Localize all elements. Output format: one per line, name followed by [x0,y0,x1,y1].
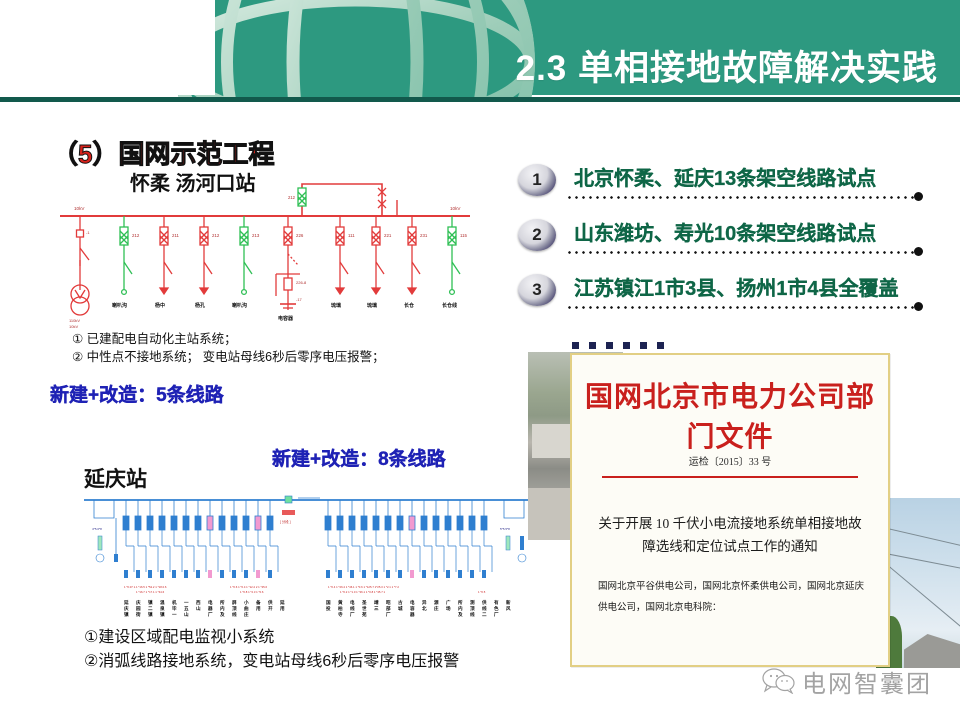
note-4: ②消弧线路接地系统，变电站母线6秒后零序电压报警 [84,650,459,674]
svg-text:1 *0.4 1 *26.4 1 *46.1 1 *0: 1 *0.4 1 *26.4 1 *46.1 1 *0.6 1 *125.7 1… [328,585,399,589]
svg-text:5*5.5*8: 5*5.5*8 [500,527,510,531]
svg-text:圣: 圣 [361,599,367,606]
svg-text:世: 世 [362,605,367,612]
svg-text:城: 城 [398,605,403,612]
svg-text:苑: 苑 [362,611,367,618]
diagram1-svg: 10kV 10kV -1 110kV 10kV [52,170,502,332]
svg-text:新: 新 [506,599,511,606]
svg-text:镇: 镇 [160,611,165,618]
svg-text:测: 测 [470,599,475,606]
svg-text:一: 一 [172,612,177,617]
svg-text:风: 风 [506,605,511,612]
slide: 2.3 单相接地故障解决实践 （5）国网示范工程 怀柔 汤河口站 10kV 10… [0,0,960,720]
svg-text:喇叭沟: 喇叭沟 [232,302,247,309]
svg-text:1 *16.7 1 *17.1 1 *44.6: 1 *16.7 1 *17.1 1 *44.6 [136,590,165,594]
svg-text:用: 用 [280,605,285,612]
svg-text:黄: 黄 [338,599,343,606]
svg-text:供: 供 [267,599,273,606]
svg-text:温: 温 [160,599,165,606]
svg-text:机: 机 [172,599,177,606]
dotted-underline [566,251,916,254]
diagram2-svg: [ 分段 ] 4*5.0*8 [80,492,540,624]
badge-number: 3 [518,274,556,306]
dot-end-marker [914,192,923,201]
document-recipients: 国网北京平谷供电公司，国网北京怀柔供电公司，国网北京延庆供电公司，国网北京电科院… [598,577,870,619]
svg-text:泉: 泉 [159,605,165,612]
note-2: ② 中性点不接地系统； 变电站母线6秒后零序电压报警； [72,348,512,366]
svg-text:西: 西 [196,599,201,606]
pilot-project-list: 1 北京怀柔、延庆13条架空线路试点 2 山东潍坊、寿光10条架空线路试点 3 … [518,160,948,325]
svg-text:容: 容 [409,605,415,612]
slide-header: 2.3 单相接地故障解决实践 [0,0,960,100]
svg-text:内: 内 [220,605,225,612]
svg-text:昭: 昭 [386,599,391,606]
svg-text:国: 国 [326,599,331,606]
dotted-underline [566,196,916,199]
svg-text:电: 电 [350,599,355,606]
svg-text:屏: 屏 [232,599,237,606]
svg-text:有: 有 [494,599,499,606]
header-white-mask [0,0,215,95]
number-badge: 1 [518,164,556,196]
svg-text:及: 及 [458,611,463,618]
svg-text:顶: 顶 [232,605,237,612]
svg-text:开: 开 [268,605,273,612]
svg-text:线: 线 [350,605,355,612]
svg-text:212: 212 [212,233,220,238]
svg-text:电: 电 [410,599,415,606]
svg-text:色: 色 [494,605,499,612]
svg-text:部: 部 [386,605,391,612]
decorative-squares [572,342,692,350]
document-title: 国网北京市电力公司部门文件 [572,375,888,455]
svg-text:线: 线 [482,605,487,612]
svg-text:10kV: 10kV [69,324,78,329]
diagram2-title: 延庆站 [84,463,147,493]
diagram2-notes: ①建设区域配电监视小系统 ②消弧线路接地系统，变电站母线6秒后零序电压报警 [84,626,459,674]
document-subject: 关于开展 10 千伏小电流接地系统单相接地故障选线和定位试点工作的通知 [598,513,862,559]
svg-text:异: 异 [422,599,427,606]
watermark-text: 电网智囊团 [802,664,932,699]
svg-text:长仓: 长仓 [404,302,415,309]
svg-text:1 *0.8 1 *2.3 1 *0.6: 1 *0.8 1 *2.3 1 *0.6 [240,590,264,594]
svg-text:4*5.0*8: 4*5.0*8 [92,527,102,531]
svg-text:顶: 顶 [470,605,475,612]
svg-text:街: 街 [135,611,141,618]
svg-text:厂: 厂 [208,611,213,618]
svg-text:10kV: 10kV [74,206,85,211]
svg-text:杨中: 杨中 [155,302,165,309]
svg-text:器: 器 [409,611,415,618]
badge-number: 1 [518,164,556,196]
svg-text:10kV: 10kV [450,206,461,211]
svg-text:电: 电 [208,599,213,606]
svg-text:1 *0.5: 1 *0.5 [478,590,486,594]
dot-end-marker [914,302,923,311]
document-red-rule [602,476,858,478]
svg-text:二: 二 [482,612,487,617]
svg-text:221: 221 [384,233,392,238]
dotted-underline [566,306,916,309]
svg-text:庄: 庄 [434,605,439,612]
svg-text:内: 内 [458,605,463,612]
header-divider [0,97,960,102]
number-badge: 2 [518,219,556,251]
svg-text:柏: 柏 [338,605,343,612]
svg-text:三: 三 [374,606,379,612]
svg-text:二: 二 [148,606,153,611]
page-title: 2.3 单相接地故障解决实践 [516,40,938,91]
svg-text:喇叭沟: 喇叭沟 [112,302,127,309]
wechat-bubble-icon [762,668,796,694]
svg-text:镇: 镇 [124,611,129,618]
svg-text:226: 226 [296,233,304,238]
diagram1-notes: ① 已建配电自动化主站系统； ② 中性点不接地系统； 变电站母线6秒后零序电压报… [72,330,512,366]
diagram1-title: 怀柔 汤河口站 [130,167,256,196]
svg-text:及: 及 [220,611,225,618]
svg-text:琉璃: 琉璃 [367,302,377,309]
svg-text:庄: 庄 [244,611,249,618]
svg-text:所: 所 [220,599,225,606]
svg-text:山: 山 [196,605,201,612]
svg-text:镇: 镇 [148,599,153,606]
svg-text:线: 线 [470,611,475,618]
svg-text:长仓线: 长仓线 [442,302,457,309]
svg-text:212: 212 [132,233,140,238]
list-item[interactable]: 1 北京怀柔、延庆13条架空线路试点 [518,160,948,215]
huairou-substation-diagram: 怀柔 汤河口站 10kV 10kV -1 [52,170,502,330]
svg-text:庆: 庆 [136,599,141,606]
list-item[interactable]: 2 山东潍坊、寿光10条架空线路试点 [518,215,948,270]
svg-text:厂: 厂 [494,611,499,618]
document-number: 运检〔2015〕33 号 [572,453,888,468]
dot-end-marker [914,247,923,256]
svg-text:曲: 曲 [244,605,249,612]
svg-text:111: 111 [348,233,355,238]
svg-text:231: 231 [420,233,428,238]
blue-caption-first: 新建+改造：5条线路 [50,380,224,407]
svg-text:毕: 毕 [172,605,177,612]
svg-text:用: 用 [256,605,261,612]
svg-text:镇: 镇 [148,611,153,618]
svg-text:杨孔: 杨孔 [195,302,205,309]
svg-text:110kV: 110kV [69,318,80,323]
svg-text:1 *0.07 1.1 *16.5 1 *52.2: 1 *0.07 1.1 *16.5 1 *52.2 1 *18.0.6 [124,585,167,589]
svg-text:电容器: 电容器 [278,315,294,322]
state-grid-document: 国网北京市电力公司部门文件 运检〔2015〕33 号 关于开展 10 千伏小电流… [570,353,890,667]
svg-text:备: 备 [255,599,261,606]
svg-text:-17: -17 [296,297,303,302]
list-item[interactable]: 3 江苏镇江1市3县、扬州1市4县全覆盖 [518,270,948,325]
list-item-label: 北京怀柔、延庆13条架空线路试点 [574,162,876,191]
section-title: （5）国网示范工程 [52,134,274,171]
badge-number: 2 [518,219,556,251]
number-badge: 3 [518,274,556,306]
yanqing-substation-diagram: [ 分段 ] 4*5.0*8 [80,492,540,622]
svg-text:庆: 庆 [124,605,129,612]
globe-grid-icon [175,0,535,100]
svg-text:226-8: 226-8 [296,280,307,285]
svg-text:211: 211 [172,233,180,238]
svg-text:琉璃: 琉璃 [331,302,341,309]
svg-text:靖: 靖 [374,599,379,606]
svg-text:延: 延 [123,599,129,606]
svg-text:延: 延 [279,599,285,606]
svg-text:投: 投 [326,605,331,612]
svg-text:园: 园 [136,605,141,612]
svg-text:器: 器 [207,605,213,612]
svg-text:213: 213 [252,233,260,238]
svg-text:一: 一 [184,600,189,605]
svg-text:115: 115 [460,233,468,238]
svg-text:1 *0.6 1 *0.4 1 *12.2 2 1: 1 *0.6 1 *0.4 1 *12.2 2 1 *25.6 [230,585,267,589]
note-3: ①建设区域配电监视小系统 [84,626,459,650]
list-item-label: 江苏镇江1市3县、扬州1市4县全覆盖 [574,272,899,301]
svg-text:-1: -1 [86,230,90,235]
svg-text:源: 源 [434,599,439,606]
svg-text:[ 分段 ]: [ 分段 ] [280,519,291,524]
watermark: 电网智囊团 [762,663,932,699]
svg-text:212: 212 [288,195,296,200]
blue-caption-second: 新建+改造：8条线路 [272,444,446,471]
svg-text:线: 线 [232,611,237,618]
svg-text:广: 广 [446,599,451,606]
svg-text:小: 小 [244,599,249,606]
svg-text:山: 山 [184,611,189,618]
svg-text:北: 北 [422,605,427,612]
svg-text:厂: 厂 [386,611,391,618]
svg-text:1 *0.2 1 *1.0 1 *26.1 1 *0.8: 1 *0.2 1 *1.0 1 *26.1 1 *0.8 1 *45.7 1 [340,590,386,594]
svg-text:古: 古 [398,599,403,606]
svg-text:所: 所 [458,599,463,606]
svg-text:场: 场 [446,605,451,612]
note-1: ① 已建配电自动化主站系统； [72,330,512,348]
list-item-label: 山东潍坊、寿光10条架空线路试点 [574,217,876,246]
svg-text:供: 供 [481,599,487,606]
svg-text:厂: 厂 [350,611,355,618]
svg-text:寺: 寺 [338,611,343,618]
